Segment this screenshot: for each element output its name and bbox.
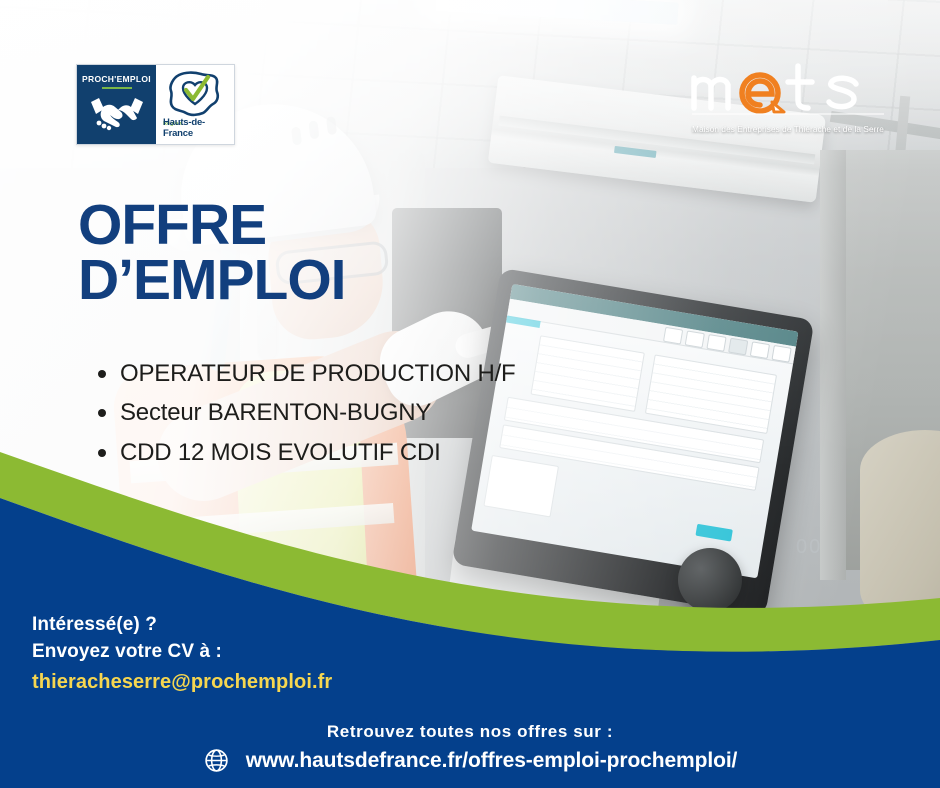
region-name: Hauts-de-France: [163, 117, 234, 139]
globe-icon: [203, 747, 230, 774]
mets-wordmark-icon: [688, 56, 888, 118]
handshake-icon: [88, 93, 146, 131]
contact-question: Intéressé(e) ?: [32, 612, 332, 639]
footer-bar: Retrouvez toutes nos offres sur : www.ha…: [0, 722, 940, 774]
proch-emploi-label: PROCH'EMPLOI: [82, 74, 151, 84]
job-details-list: OPERATEUR DE PRODUCTION H/F Secteur BARE…: [92, 360, 516, 478]
contact-block: Intéressé(e) ? Envoyez votre CV à : thie…: [32, 612, 332, 696]
mets-logo[interactable]: Maison des Entreprises de Thiérache et d…: [688, 56, 888, 134]
proch-emploi-logo[interactable]: PROCH'EMPLOI: [77, 65, 156, 144]
title-line-2: D’EMPLOI: [78, 253, 346, 308]
page-title: OFFRE D’EMPLOI: [78, 198, 346, 307]
footer-lead-text: Retrouvez toutes nos offres sur :: [0, 722, 940, 742]
partner-logos: PROCH'EMPLOI Région Hauts-de-France: [76, 64, 235, 145]
list-item: Secteur BARENTON-BUGNY: [92, 399, 516, 427]
proch-emploi-rule: [102, 87, 132, 89]
region-hauts-de-france-logo[interactable]: Région Hauts-de-France: [156, 65, 234, 144]
title-line-1: OFFRE: [78, 198, 346, 253]
job-offer-poster: 00 ▭▭▭: [0, 0, 940, 788]
contact-email[interactable]: thieracheserre@prochemploi.fr: [32, 668, 332, 696]
footer-url[interactable]: www.hautsdefrance.fr/offres-emploi-proch…: [246, 749, 738, 773]
list-item: OPERATEUR DE PRODUCTION H/F: [92, 360, 516, 388]
footer-url-row: www.hautsdefrance.fr/offres-emploi-proch…: [0, 747, 940, 774]
mets-tagline: Maison des Entreprises de Thiérache et d…: [688, 125, 888, 134]
contact-instruction: Envoyez votre CV à :: [32, 639, 332, 666]
list-item: CDD 12 MOIS EVOLUTIF CDI: [92, 439, 516, 467]
